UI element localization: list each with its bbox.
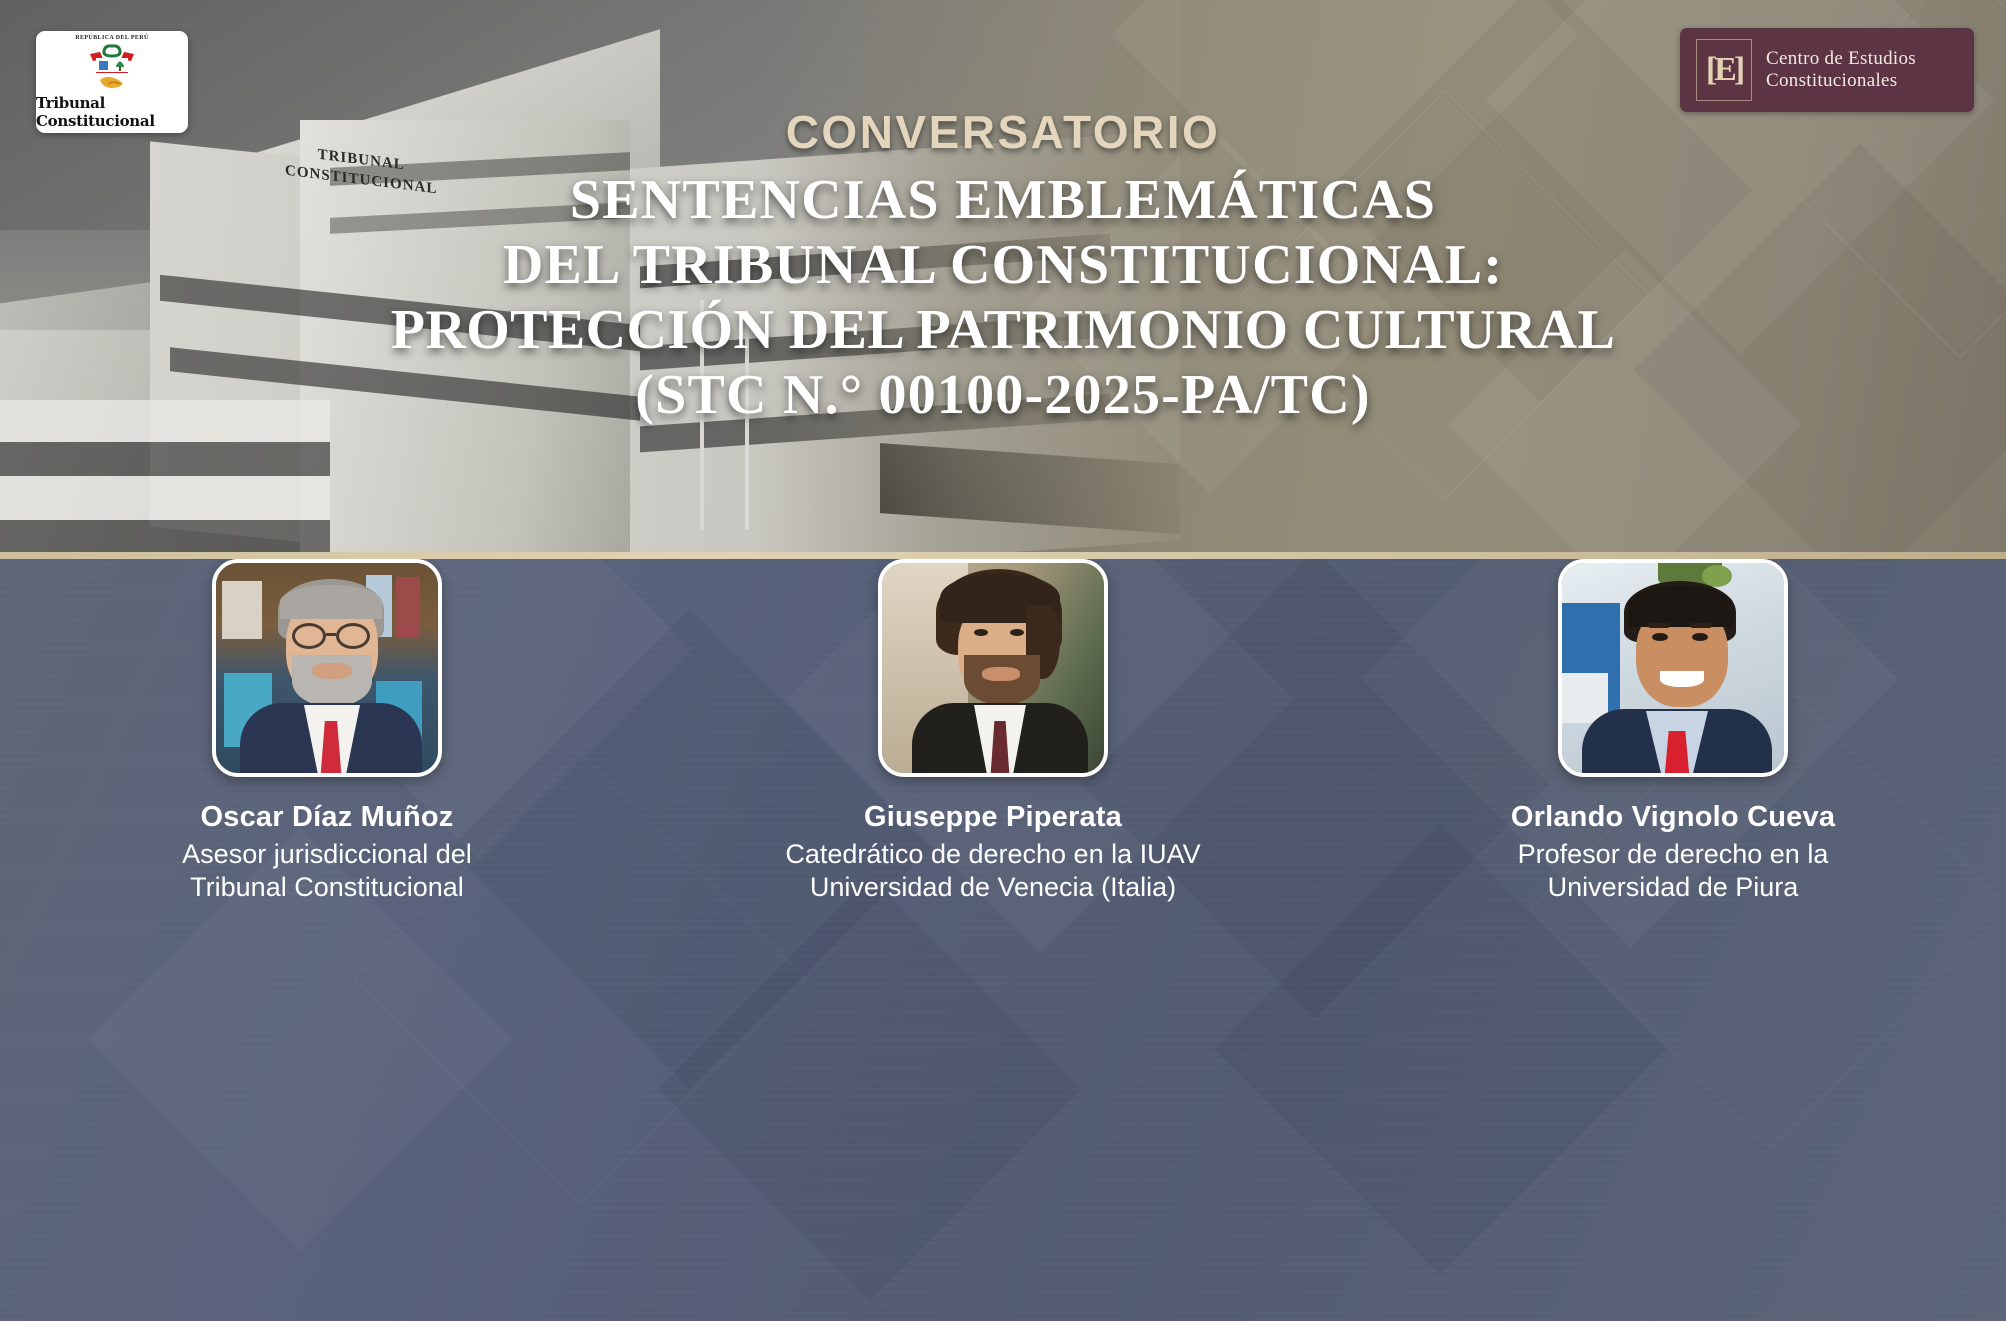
speaker-photo (878, 559, 1108, 777)
speaker-photo (1558, 559, 1788, 777)
cec-line-1: Centro de Estudios (1766, 48, 1916, 70)
cec-bracket-e-icon: [E] (1696, 39, 1752, 101)
speaker-name: Giuseppe Piperata (864, 801, 1122, 834)
peru-coat-of-arms-icon (80, 40, 144, 92)
title-line-3: PROTECCIÓN DEL PATRIMONIO CULTURAL (0, 298, 2006, 363)
kicker-label: CONVERSATORIO (0, 105, 2006, 159)
speaker-card: Orlando Vignolo Cueva Profesor de derech… (1340, 559, 2006, 904)
speaker-role: Asesor jurisdiccional del Tribunal Const… (182, 838, 472, 904)
speaker-card: Giuseppe Piperata Catedrático de derecho… (660, 559, 1326, 904)
speaker-photo (212, 559, 442, 777)
page-title: SENTENCIAS EMBLEMÁTICAS DEL TRIBUNAL CON… (0, 168, 2006, 428)
speaker-role: Catedrático de derecho en la IUAV Univer… (785, 838, 1200, 904)
section-divider-rule (0, 552, 2006, 559)
speaker-role-line-2: Universidad de Venecia (Italia) (785, 871, 1200, 904)
speaker-role-line-1: Catedrático de derecho en la IUAV (785, 838, 1200, 871)
tribunal-logo-name: Tribunal Constitucional (36, 94, 188, 130)
title-line-4: (STC N.° 00100-2025-PA/TC) (0, 363, 2006, 428)
speaker-name: Orlando Vignolo Cueva (1511, 801, 1835, 834)
speaker-role-line-2: Universidad de Piura (1518, 871, 1829, 904)
cec-line-2: Constitucionales (1766, 70, 1916, 92)
speakers-and-details-band: Oscar Díaz Muñoz Asesor jurisdiccional d… (0, 559, 2006, 1321)
cec-logo-text: Centro de Estudios Constitucionales (1766, 48, 1916, 93)
title-line-1: SENTENCIAS EMBLEMÁTICAS (0, 168, 2006, 233)
speaker-name: Oscar Díaz Muñoz (201, 801, 454, 834)
tribunal-constitucional-logo: REPÚBLICA DEL PERÚ Tribunal Constitucion… (36, 31, 188, 133)
speaker-role-line-1: Asesor jurisdiccional del (182, 838, 472, 871)
speaker-role: Profesor de derecho en la Universidad de… (1518, 838, 1829, 904)
speaker-role-line-1: Profesor de derecho en la (1518, 838, 1829, 871)
title-line-2: DEL TRIBUNAL CONSTITUCIONAL: (0, 233, 2006, 298)
speaker-role-line-2: Tribunal Constitucional (182, 871, 472, 904)
cec-mark-glyph: [E] (1706, 51, 1742, 89)
hero-band: TRIBUNAL CONSTITUCIONAL CONVERSATORIO SE… (0, 0, 2006, 558)
speakers-row: Oscar Díaz Muñoz Asesor jurisdiccional d… (0, 559, 2006, 904)
event-poster: TRIBUNAL CONSTITUCIONAL CONVERSATORIO SE… (0, 0, 2006, 1321)
centro-estudios-constitucionales-logo: [E] Centro de Estudios Constitucionales (1680, 28, 1974, 112)
speaker-card: Oscar Díaz Muñoz Asesor jurisdiccional d… (0, 559, 660, 904)
